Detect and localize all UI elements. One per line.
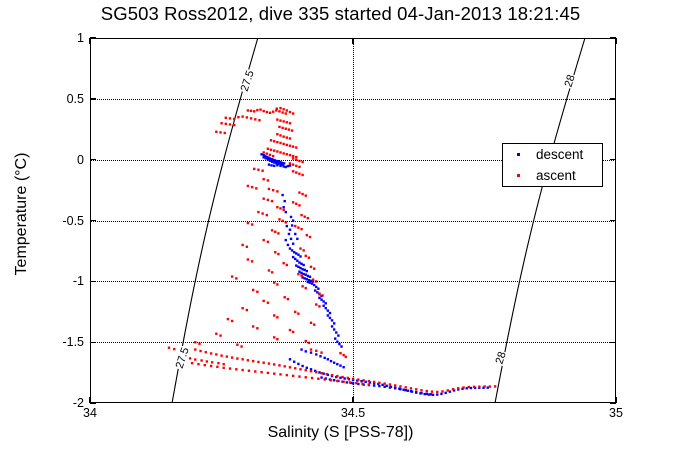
y-tick-label-1: 0.5 <box>44 92 84 106</box>
x-tick-label-0: 34 <box>60 406 120 420</box>
legend-entry-descent[interactable]: descent <box>503 144 604 166</box>
tick-y-4 <box>90 281 96 282</box>
tick-y-right-2 <box>610 159 616 160</box>
x-axis-title: Salinity (S [PSS-78]) <box>0 424 681 442</box>
tick-y-6 <box>90 402 96 403</box>
y-tick-label-5: -1.5 <box>44 335 84 349</box>
y-tick-label-0: 1 <box>44 31 84 45</box>
tick-y-right-5 <box>610 342 616 343</box>
legend[interactable]: descent ascent <box>502 143 603 187</box>
y-tick-label-3: -0.5 <box>44 214 84 228</box>
tick-y-right-1 <box>610 98 616 99</box>
tick-x-1 <box>352 397 353 403</box>
tick-y-right-4 <box>610 281 616 282</box>
tick-x-2 <box>615 397 616 403</box>
y-tick-label-2: 0 <box>44 153 84 167</box>
legend-label-descent: descent <box>536 147 583 162</box>
tick-y-3 <box>90 220 96 221</box>
tick-x-top-1 <box>352 38 353 44</box>
x-tick-label-1: 34.5 <box>323 406 383 420</box>
tick-y-right-3 <box>610 220 616 221</box>
legend-marker-descent <box>517 153 520 156</box>
x-tick-label-2: 35 <box>586 406 646 420</box>
tick-x-top-2 <box>615 38 616 44</box>
page-title: SG503 Ross2012, dive 335 started 04-Jan-… <box>0 3 681 25</box>
gridline-vertical-1 <box>353 38 354 403</box>
tick-y-1 <box>90 98 96 99</box>
tick-y-0 <box>90 37 96 38</box>
tick-y-2 <box>90 159 96 160</box>
tick-y-5 <box>90 342 96 343</box>
legend-label-ascent: ascent <box>536 168 576 183</box>
y-axis-title: Temperature (°C) <box>13 124 31 304</box>
legend-entry-ascent[interactable]: ascent <box>503 165 604 187</box>
tick-x-0 <box>89 397 90 403</box>
legend-marker-ascent <box>517 174 520 177</box>
tick-x-top-0 <box>89 38 90 44</box>
y-tick-label-4: -1 <box>44 274 84 288</box>
